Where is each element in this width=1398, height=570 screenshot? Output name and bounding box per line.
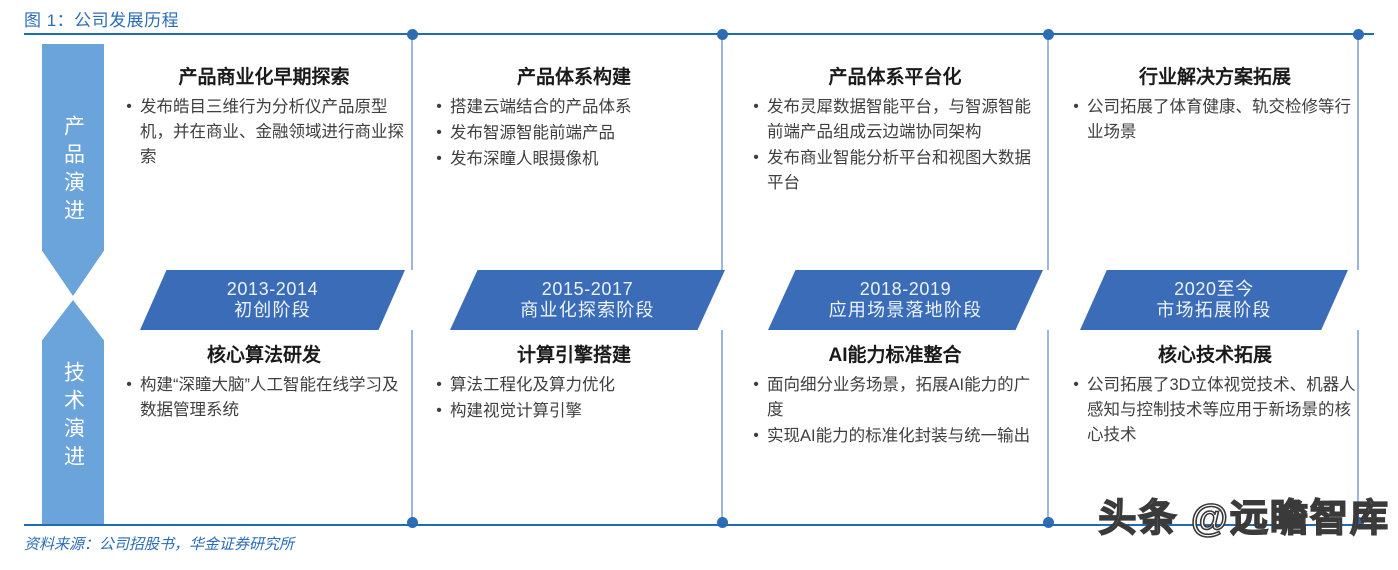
product-block: 行业解决方案拓展•公司拓展了体育健康、轨交检修等行业场景 bbox=[1065, 62, 1365, 146]
phase-years: 2013-2014 bbox=[227, 279, 318, 300]
technology-block: 计算引擎搭建•算法工程化及算力优化•构建视觉计算引擎 bbox=[428, 340, 720, 425]
list-item: •发布深瞳人眼摄像机 bbox=[428, 147, 720, 172]
technology-title: 核心技术拓展 bbox=[1065, 340, 1365, 367]
list-item: •发布智源智能前端产品 bbox=[428, 121, 720, 146]
product-title: 产品商业化早期探索 bbox=[118, 62, 410, 89]
product-title: 产品体系平台化 bbox=[745, 62, 1045, 89]
rail-product-evolution-label: 产品演进 bbox=[42, 96, 104, 246]
list-item-text: 算法工程化及算力优化 bbox=[450, 373, 720, 398]
list-item: •实现AI能力的标准化封装与统一输出 bbox=[745, 424, 1045, 449]
product-bullet-list: •公司拓展了体育健康、轨交检修等行业场景 bbox=[1065, 95, 1365, 145]
list-item: •构建“深瞳大脑”人工智能在线学习及数据管理系统 bbox=[118, 373, 410, 423]
phase-name: 市场拓展阶段 bbox=[1156, 300, 1271, 321]
product-block: 产品商业化早期探索•发布皓目三维行为分析仪产品原型机，并在商业、金融领域进行商业… bbox=[118, 62, 410, 171]
list-item-text: 发布深瞳人眼摄像机 bbox=[450, 147, 720, 172]
list-item-text: 构建视觉计算引擎 bbox=[450, 399, 720, 424]
bullet-dot-icon: • bbox=[1065, 373, 1087, 397]
list-item: •公司拓展了3D立体视觉技术、机器人感知与控制技术等应用于新场景的核心技术 bbox=[1065, 373, 1365, 448]
timeline-line-upper bbox=[1047, 33, 1049, 270]
bullet-dot-icon: • bbox=[1065, 95, 1087, 119]
list-item-text: 公司拓展了3D立体视觉技术、机器人感知与控制技术等应用于新场景的核心技术 bbox=[1087, 373, 1365, 448]
list-item: •面向细分业务场景，拓展AI能力的广度 bbox=[745, 373, 1045, 423]
technology-bullet-list: •算法工程化及算力优化•构建视觉计算引擎 bbox=[428, 373, 720, 424]
technology-bullet-list: •公司拓展了3D立体视觉技术、机器人感知与控制技术等应用于新场景的核心技术 bbox=[1065, 373, 1365, 448]
rail-technology-evolution: 技术演进 bbox=[42, 300, 104, 524]
timeline-dot-top bbox=[407, 29, 418, 40]
phase-name: 初创阶段 bbox=[234, 300, 311, 321]
bullet-dot-icon: • bbox=[745, 373, 767, 397]
list-item: •搭建云端结合的产品体系 bbox=[428, 95, 720, 120]
timeline-dot-top bbox=[717, 29, 728, 40]
phase-name: 商业化探索阶段 bbox=[520, 300, 654, 321]
timeline-dot-bottom bbox=[1043, 517, 1054, 528]
timeline-dot-bottom bbox=[717, 517, 728, 528]
figure-canvas: 图 1：公司发展历程 产品演进 技术演进 产品商业化早期探索•发布皓目三维行为分… bbox=[0, 0, 1398, 570]
product-title: 行业解决方案拓展 bbox=[1065, 62, 1365, 89]
phase-banner[interactable]: 2013-2014初创阶段 bbox=[140, 270, 405, 330]
bullet-dot-icon: • bbox=[428, 121, 450, 145]
rail-product-evolution: 产品演进 bbox=[42, 44, 104, 296]
bullet-dot-icon: • bbox=[428, 399, 450, 423]
list-item-text: 发布灵犀数据智能平台，与智源智能前端产品组成云边端协同架构 bbox=[767, 95, 1045, 145]
product-block: 产品体系平台化•发布灵犀数据智能平台，与智源智能前端产品组成云边端协同架构•发布… bbox=[745, 62, 1045, 197]
bullet-dot-icon: • bbox=[118, 95, 140, 119]
list-item: •公司拓展了体育健康、轨交检修等行业场景 bbox=[1065, 95, 1365, 145]
phase-banner[interactable]: 2015-2017商业化探索阶段 bbox=[450, 270, 725, 330]
list-item-text: 面向细分业务场景，拓展AI能力的广度 bbox=[767, 373, 1045, 423]
technology-title: 计算引擎搭建 bbox=[428, 340, 720, 367]
timeline-dot-top bbox=[1043, 29, 1054, 40]
timeline-line-lower bbox=[1047, 330, 1049, 524]
rail-technology-evolution-label: 技术演进 bbox=[42, 342, 104, 492]
list-item-text: 发布皓目三维行为分析仪产品原型机，并在商业、金融领域进行商业探索 bbox=[140, 95, 410, 170]
phase-banner[interactable]: 2020至今市场拓展阶段 bbox=[1080, 270, 1348, 330]
technology-bullet-list: •面向细分业务场景，拓展AI能力的广度•实现AI能力的标准化封装与统一输出 bbox=[745, 373, 1045, 449]
technology-title: 核心算法研发 bbox=[118, 340, 410, 367]
technology-block: AI能力标准整合•面向细分业务场景，拓展AI能力的广度•实现AI能力的标准化封装… bbox=[745, 340, 1045, 450]
timeline-line-upper bbox=[411, 33, 413, 270]
list-item: •发布皓目三维行为分析仪产品原型机，并在商业、金融领域进行商业探索 bbox=[118, 95, 410, 170]
product-bullet-list: •发布皓目三维行为分析仪产品原型机，并在商业、金融领域进行商业探索 bbox=[118, 95, 410, 170]
phase-name: 应用场景落地阶段 bbox=[829, 300, 983, 321]
phase-years: 2018-2019 bbox=[860, 279, 951, 300]
bullet-dot-icon: • bbox=[428, 373, 450, 397]
product-title: 产品体系构建 bbox=[428, 62, 720, 89]
list-item: •算法工程化及算力优化 bbox=[428, 373, 720, 398]
product-block: 产品体系构建•搭建云端结合的产品体系•发布智源智能前端产品•发布深瞳人眼摄像机 bbox=[428, 62, 720, 173]
bullet-dot-icon: • bbox=[428, 95, 450, 119]
bullet-dot-icon: • bbox=[745, 146, 767, 170]
timeline-dot-bottom bbox=[407, 517, 418, 528]
technology-block: 核心算法研发•构建“深瞳大脑”人工智能在线学习及数据管理系统 bbox=[118, 340, 410, 424]
technology-block: 核心技术拓展•公司拓展了3D立体视觉技术、机器人感知与控制技术等应用于新场景的核… bbox=[1065, 340, 1365, 449]
bullet-dot-icon: • bbox=[745, 95, 767, 119]
phase-banner[interactable]: 2018-2019应用场景落地阶段 bbox=[768, 270, 1043, 330]
timeline-dot-top bbox=[1353, 29, 1364, 40]
list-item-text: 发布商业智能分析平台和视图大数据平台 bbox=[767, 146, 1045, 196]
list-item-text: 构建“深瞳大脑”人工智能在线学习及数据管理系统 bbox=[140, 373, 410, 423]
timeline-line-upper bbox=[721, 33, 723, 270]
list-item-text: 发布智源智能前端产品 bbox=[450, 121, 720, 146]
list-item: •发布商业智能分析平台和视图大数据平台 bbox=[745, 146, 1045, 196]
list-item-text: 公司拓展了体育健康、轨交检修等行业场景 bbox=[1087, 95, 1365, 145]
source-note: 资料来源：公司招股书，华金证券研究所 bbox=[24, 533, 294, 554]
product-bullet-list: •发布灵犀数据智能平台，与智源智能前端产品组成云边端协同架构•发布商业智能分析平… bbox=[745, 95, 1045, 196]
page-title: 图 1：公司发展历程 bbox=[24, 6, 179, 31]
list-item: •构建视觉计算引擎 bbox=[428, 399, 720, 424]
product-bullet-list: •搭建云端结合的产品体系•发布智源智能前端产品•发布深瞳人眼摄像机 bbox=[428, 95, 720, 172]
bullet-dot-icon: • bbox=[428, 147, 450, 171]
top-divider bbox=[24, 33, 1374, 35]
bullet-dot-icon: • bbox=[118, 373, 140, 397]
timeline-line-lower bbox=[411, 330, 413, 524]
bullet-dot-icon: • bbox=[745, 424, 767, 448]
phase-years: 2015-2017 bbox=[542, 279, 633, 300]
timeline-line-lower bbox=[721, 330, 723, 524]
technology-title: AI能力标准整合 bbox=[745, 340, 1045, 367]
list-item-text: 实现AI能力的标准化封装与统一输出 bbox=[767, 424, 1045, 449]
list-item-text: 搭建云端结合的产品体系 bbox=[450, 95, 720, 120]
technology-bullet-list: •构建“深瞳大脑”人工智能在线学习及数据管理系统 bbox=[118, 373, 410, 423]
list-item: •发布灵犀数据智能平台，与智源智能前端产品组成云边端协同架构 bbox=[745, 95, 1045, 145]
watermark: 头条 @远瞻智库 bbox=[1098, 500, 1390, 538]
phase-years: 2020至今 bbox=[1174, 279, 1254, 300]
